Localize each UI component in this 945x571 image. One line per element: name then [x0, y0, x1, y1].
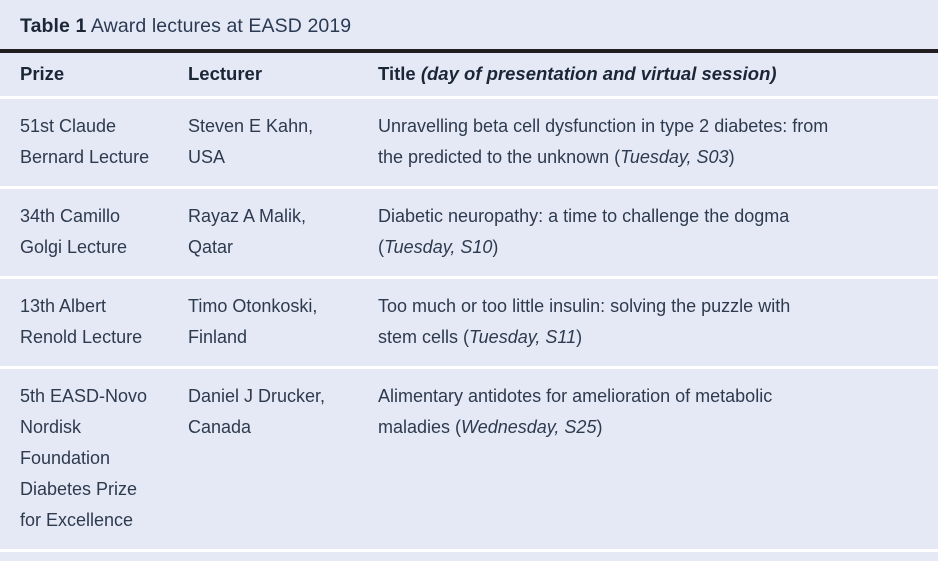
- title-text: ): [596, 417, 602, 437]
- column-header-prize: Prize: [0, 53, 188, 98]
- cell-prize-line: Renold Lecture: [20, 322, 172, 353]
- table-caption-text: Award lectures at EASD 2019: [91, 15, 351, 37]
- cell-prize-line: for Excellence: [20, 505, 172, 536]
- cell-lecturer-line: Finland: [188, 322, 362, 353]
- cell-prize-line: Bernard Lecture: [20, 142, 172, 173]
- cell-prize-line: Golgi Lecture: [20, 232, 172, 263]
- table-caption: Table 1 Award lectures at EASD 2019: [0, 0, 938, 39]
- cell-prize: 5th EASD-NovoNordiskFoundationDiabetes P…: [0, 368, 188, 551]
- title-text: Unravelling beta cell dysfunction in typ…: [378, 116, 828, 136]
- cell-prize-line: Diabetes Prize: [20, 474, 172, 505]
- cell-title-line: Too much or too little insulin: solving …: [378, 291, 922, 322]
- table-row: 51st ClaudeBernard LectureSteven E Kahn,…: [0, 98, 938, 188]
- cell-prize: 34th CamilloGolgi Lecture: [0, 188, 188, 278]
- cell-title: Unravelling beta cell dysfunction in typ…: [378, 98, 938, 188]
- cell-lecturer: Steven E Kahn,USA: [188, 98, 378, 188]
- table-header-row: Prize Lecturer Title (day of presentatio…: [0, 53, 938, 98]
- table-row: 5th EASD-NovoNordiskFoundationDiabetes P…: [0, 368, 938, 551]
- cell-title-line: (Tuesday, S10): [378, 232, 922, 263]
- cell-lecturer: Daniel J Drucker,Canada: [188, 368, 378, 551]
- cell-prize: 13th AlbertRenold Lecture: [0, 278, 188, 368]
- cell-title: My gut feeling about glucagon (Thursday,…: [378, 551, 938, 562]
- column-header-title-sub: (day of presentation and virtual session…: [421, 63, 777, 84]
- title-text: Too much or too little insulin: solving …: [378, 296, 790, 316]
- cell-title: Alimentary antidotes for amelioration of…: [378, 368, 938, 551]
- cell-title: Too much or too little insulin: solving …: [378, 278, 938, 368]
- cell-prize-line: 13th Albert: [20, 291, 172, 322]
- table-row: 13th AlbertRenold LectureTimo Otonkoski,…: [0, 278, 938, 368]
- cell-lecturer: Filip K Knop,Denmark: [188, 551, 378, 562]
- title-session-ref: Wednesday, S25: [461, 417, 596, 437]
- title-text: maladies (: [378, 417, 461, 437]
- cell-lecturer-line: USA: [188, 142, 362, 173]
- cell-lecturer-line: Canada: [188, 412, 362, 443]
- cell-lecturer-line: Qatar: [188, 232, 362, 263]
- title-text: stem cells (: [378, 327, 469, 347]
- table-row: 34th CamilloGolgi LectureRayaz A Malik,Q…: [0, 188, 938, 278]
- table-row: 54th MinkowskiLectureFilip K Knop,Denmar…: [0, 551, 938, 562]
- title-text: Alimentary antidotes for amelioration of…: [378, 386, 772, 406]
- cell-lecturer-line: Steven E Kahn,: [188, 111, 362, 142]
- title-text: the predicted to the unknown (: [378, 147, 620, 167]
- cell-lecturer: Rayaz A Malik,Qatar: [188, 188, 378, 278]
- cell-prize: 54th MinkowskiLecture: [0, 551, 188, 562]
- column-header-lecturer: Lecturer: [188, 53, 378, 98]
- title-text: ): [576, 327, 582, 347]
- cell-prize: 51st ClaudeBernard Lecture: [0, 98, 188, 188]
- cell-title-line: stem cells (Tuesday, S11): [378, 322, 922, 353]
- title-session-ref: Tuesday, S11: [469, 327, 576, 347]
- cell-prize-line: 5th EASD-Novo: [20, 381, 172, 412]
- cell-title-line: Alimentary antidotes for amelioration of…: [378, 381, 922, 412]
- cell-lecturer-line: Timo Otonkoski,: [188, 291, 362, 322]
- cell-prize-line: 51st Claude: [20, 111, 172, 142]
- table-caption-label: Table 1: [20, 15, 86, 37]
- cell-prize-line: Foundation: [20, 443, 172, 474]
- column-header-title-main: Title: [378, 63, 416, 84]
- cell-title-line: maladies (Wednesday, S25): [378, 412, 922, 443]
- cell-prize-line: Nordisk: [20, 412, 172, 443]
- cell-title-line: Unravelling beta cell dysfunction in typ…: [378, 111, 922, 142]
- cell-lecturer: Timo Otonkoski,Finland: [188, 278, 378, 368]
- column-header-title: Title (day of presentation and virtual s…: [378, 53, 938, 98]
- cell-title-line: Diabetic neuropathy: a time to challenge…: [378, 201, 922, 232]
- cell-lecturer-line: Rayaz A Malik,: [188, 201, 362, 232]
- table-body: 51st ClaudeBernard LectureSteven E Kahn,…: [0, 98, 938, 562]
- table-figure: Table 1 Award lectures at EASD 2019 Priz…: [0, 0, 938, 561]
- cell-title-line: the predicted to the unknown (Tuesday, S…: [378, 142, 922, 173]
- title-session-ref: Tuesday, S10: [384, 237, 492, 257]
- title-text: ): [492, 237, 498, 257]
- cell-title: Diabetic neuropathy: a time to challenge…: [378, 188, 938, 278]
- title-text: ): [729, 147, 735, 167]
- cell-lecturer-line: Daniel J Drucker,: [188, 381, 362, 412]
- cell-prize-line: 34th Camillo: [20, 201, 172, 232]
- table-header: Prize Lecturer Title (day of presentatio…: [0, 53, 938, 98]
- title-text: Diabetic neuropathy: a time to challenge…: [378, 206, 789, 226]
- awards-table: Prize Lecturer Title (day of presentatio…: [0, 53, 938, 561]
- title-session-ref: Tuesday, S03: [620, 147, 728, 167]
